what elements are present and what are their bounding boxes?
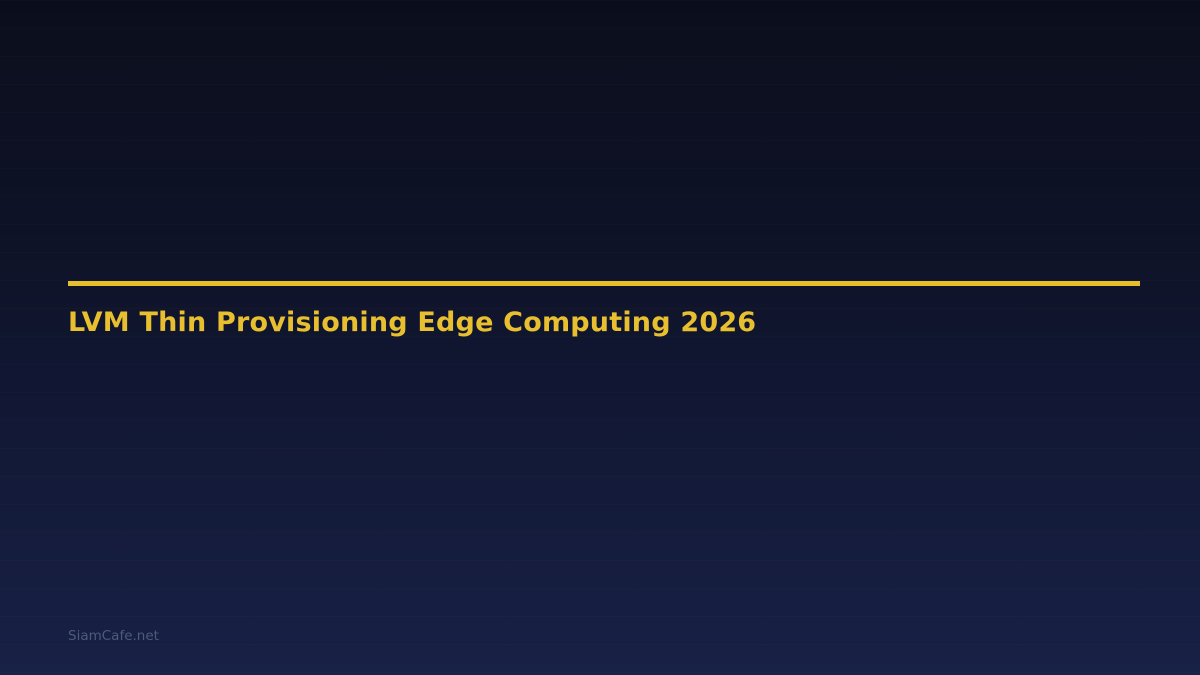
footer-brand-label: SiamCafe.net [68, 630, 159, 644]
title-accent-bar [68, 281, 1140, 286]
page-title: LVM Thin Provisioning Edge Computing 202… [68, 309, 756, 336]
title-block: LVM Thin Provisioning Edge Computing 202… [68, 281, 1140, 286]
presentation-slide: LVM Thin Provisioning Edge Computing 202… [0, 0, 1200, 675]
